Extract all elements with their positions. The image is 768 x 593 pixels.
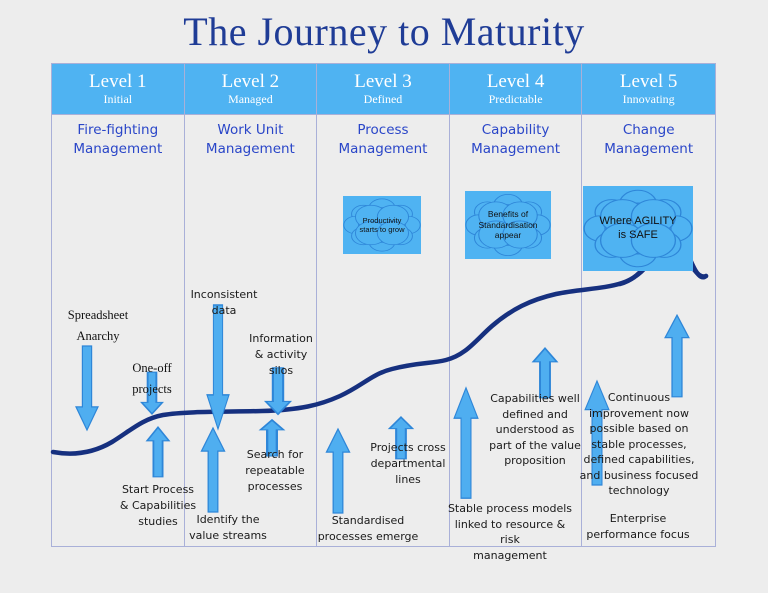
note-line-1: Inconsistent bbox=[182, 287, 266, 303]
note-line-2: & activity bbox=[242, 347, 320, 363]
note-line-1: Enterprise bbox=[580, 511, 696, 527]
cloud-line-2: is SAFE bbox=[599, 229, 676, 243]
note-one-off-projects: One-off projects bbox=[113, 358, 191, 400]
cloud-standardisation-text: Benefits of Standardisation appear bbox=[472, 209, 543, 241]
stage-label: Managed bbox=[228, 92, 273, 106]
note-line-1: Stable process models bbox=[444, 501, 576, 517]
note-line-1: Start Process bbox=[103, 482, 213, 498]
note-line-1: One-off bbox=[113, 358, 191, 379]
cloud-productivity-text: Productivity starts to grow bbox=[353, 216, 410, 235]
page-title: The Journey to Maturity bbox=[0, 8, 768, 55]
note-line-2: processes emerge bbox=[312, 529, 424, 545]
note-line-4: stable processes, bbox=[578, 437, 700, 453]
note-line-2: linked to resource & risk bbox=[444, 517, 576, 548]
cloud-line-1: Productivity bbox=[359, 216, 404, 225]
column-title-level-4: Capability Management bbox=[450, 121, 582, 159]
note-line-3: possible based on bbox=[578, 421, 700, 437]
note-line-2: improvement now bbox=[578, 406, 700, 422]
note-line-2: departmental bbox=[360, 456, 456, 472]
cloud-line-3: appear bbox=[478, 230, 537, 241]
note-line-5: proposition bbox=[480, 453, 590, 469]
note-information-activity-silos: Information & activity silos bbox=[242, 331, 320, 379]
stage-label: Initial bbox=[103, 92, 132, 106]
level-label: Level 4 bbox=[487, 72, 545, 92]
column-title-line-2: Management bbox=[317, 140, 449, 159]
cloud-line-1: Where AGILITY bbox=[599, 215, 676, 229]
column-level-4: Level 4 Predictable Capability Managemen… bbox=[450, 64, 583, 546]
note-projects-cross-departmental: Projects cross departmental lines bbox=[360, 440, 456, 488]
note-stable-process-models: Stable process models linked to resource… bbox=[444, 501, 576, 563]
note-line-2: defined and bbox=[480, 407, 590, 423]
note-line-4: part of the value bbox=[480, 438, 590, 454]
stage-label: Defined bbox=[364, 92, 403, 106]
note-line-1: Identify the bbox=[178, 512, 278, 528]
cloud-line-2: Standardisation bbox=[478, 220, 537, 231]
column-title-level-5: Change Management bbox=[582, 121, 715, 159]
column-title-line-1: Fire-fighting bbox=[52, 121, 184, 140]
note-spreadsheet-anarchy: Spreadsheet Anarchy bbox=[52, 305, 144, 347]
note-line-2: Anarchy bbox=[52, 326, 144, 347]
note-line-3: lines bbox=[360, 472, 456, 488]
note-line-2: data bbox=[182, 303, 266, 319]
note-line-2: performance focus bbox=[580, 527, 696, 543]
column-title-line-1: Change bbox=[582, 121, 715, 140]
note-line-5: defined capabilities, bbox=[578, 452, 700, 468]
note-line-6: and business focused bbox=[578, 468, 700, 484]
note-line-1: Spreadsheet bbox=[52, 305, 144, 326]
column-title-line-2: Management bbox=[582, 140, 715, 159]
column-title-level-3: Process Management bbox=[317, 121, 449, 159]
note-line-2: repeatable bbox=[232, 463, 318, 479]
column-header-level-4: Level 4 Predictable bbox=[450, 64, 582, 115]
column-header-level-1: Level 1 Initial bbox=[52, 64, 184, 115]
level-label: Level 3 bbox=[354, 72, 412, 92]
note-line-1: Continuous bbox=[578, 390, 700, 406]
note-line-3: processes bbox=[232, 479, 318, 495]
note-continuous-improvement: Continuous improvement now possible base… bbox=[578, 390, 700, 499]
note-standardised-processes: Standardised processes emerge bbox=[312, 513, 424, 545]
column-title-line-1: Work Unit bbox=[185, 121, 317, 140]
level-label: Level 5 bbox=[620, 72, 678, 92]
stage-label: Predictable bbox=[489, 92, 543, 106]
column-title-line-2: Management bbox=[450, 140, 582, 159]
column-header-level-3: Level 3 Defined bbox=[317, 64, 449, 115]
note-line-2: projects bbox=[113, 379, 191, 400]
column-header-level-5: Level 5 Innovating bbox=[582, 64, 715, 115]
note-line-1: Projects cross bbox=[360, 440, 456, 456]
column-title-line-2: Management bbox=[52, 140, 184, 159]
note-inconsistent-data: Inconsistent data bbox=[182, 287, 266, 319]
column-title-line-1: Process bbox=[317, 121, 449, 140]
note-line-3: management bbox=[444, 548, 576, 564]
cloud-standardisation: Benefits of Standardisation appear bbox=[465, 191, 551, 259]
cloud-agility-text: Where AGILITY is SAFE bbox=[593, 215, 682, 243]
column-title-level-2: Work Unit Management bbox=[185, 121, 317, 159]
level-label: Level 2 bbox=[222, 72, 280, 92]
stage-label: Innovating bbox=[623, 92, 675, 106]
note-capabilities-well-defined: Capabilities well defined and understood… bbox=[480, 391, 590, 469]
note-identify-value-streams: Identify the value streams bbox=[178, 512, 278, 544]
note-enterprise-performance-focus: Enterprise performance focus bbox=[580, 511, 696, 543]
note-line-3: silos bbox=[242, 363, 320, 379]
note-line-1: Capabilities well bbox=[480, 391, 590, 407]
column-title-line-1: Capability bbox=[450, 121, 582, 140]
note-line-3: understood as bbox=[480, 422, 590, 438]
column-title-line-2: Management bbox=[185, 140, 317, 159]
note-search-repeatable-processes: Search for repeatable processes bbox=[232, 447, 318, 495]
cloud-agility: Where AGILITY is SAFE bbox=[583, 186, 693, 271]
note-line-1: Standardised bbox=[312, 513, 424, 529]
note-line-7: technology bbox=[578, 483, 700, 499]
column-title-level-1: Fire-fighting Management bbox=[52, 121, 184, 159]
cloud-productivity: Productivity starts to grow bbox=[343, 196, 421, 254]
note-line-2: value streams bbox=[178, 528, 278, 544]
cloud-line-2: starts to grow bbox=[359, 225, 404, 234]
column-header-level-2: Level 2 Managed bbox=[185, 64, 317, 115]
note-line-1: Information bbox=[242, 331, 320, 347]
level-label: Level 1 bbox=[89, 72, 147, 92]
cloud-line-1: Benefits of bbox=[478, 209, 537, 220]
note-line-1: Search for bbox=[232, 447, 318, 463]
